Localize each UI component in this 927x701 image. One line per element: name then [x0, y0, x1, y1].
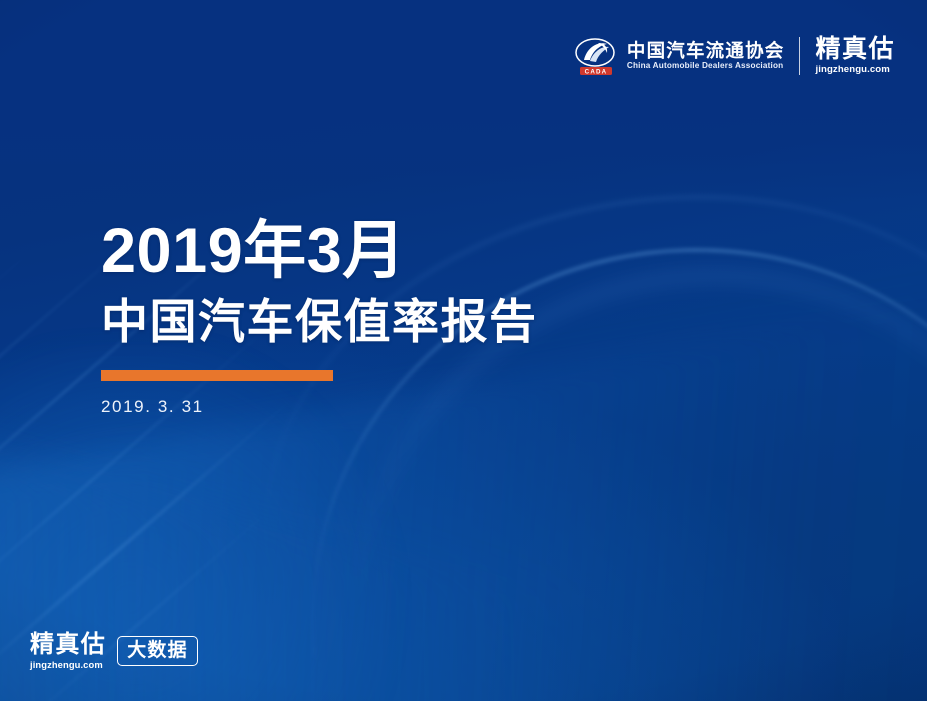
header-branding: CADA 中国汽车流通协会 China Automobile Dealers A…: [574, 34, 895, 78]
footer-bigdata-badge: 大数据: [117, 636, 198, 666]
cada-wordmark: 中国汽车流通协会 China Automobile Dealers Associ…: [627, 42, 785, 71]
jingzhengu-domain: jingzhengu.com: [815, 65, 895, 75]
footer-branding: 精真估 jingzhengu.com 大数据: [30, 633, 198, 669]
title-block: 2019年3月 中国汽车保值率报告 2019. 3. 31: [101, 218, 538, 417]
svg-text:CADA: CADA: [585, 69, 608, 76]
presentation-title-slide: CADA 中国汽车流通协会 China Automobile Dealers A…: [0, 0, 927, 701]
cada-name-cn: 中国汽车流通协会: [627, 42, 785, 61]
footer-brand-domain: jingzhengu.com: [30, 660, 106, 669]
footer-logo: 精真估 jingzhengu.com: [30, 633, 106, 669]
cada-name-en: China Automobile Dealers Association: [627, 62, 785, 70]
cada-emblem-icon: CADA: [574, 34, 618, 78]
background-top-panel: [0, 0, 927, 200]
jingzhengu-logo: 精真估 jingzhengu.com: [815, 37, 895, 75]
report-date: 2019. 3. 31: [101, 397, 538, 417]
accent-divider-bar: [101, 370, 333, 381]
jingzhengu-name-cn: 精真估: [815, 37, 895, 62]
header-divider: [799, 37, 800, 75]
report-main-title: 中国汽车保值率报告: [101, 296, 538, 348]
report-period-title: 2019年3月: [101, 218, 538, 284]
footer-brand-cn: 精真估: [30, 633, 106, 657]
cada-logo: CADA 中国汽车流通协会 China Automobile Dealers A…: [574, 34, 785, 78]
